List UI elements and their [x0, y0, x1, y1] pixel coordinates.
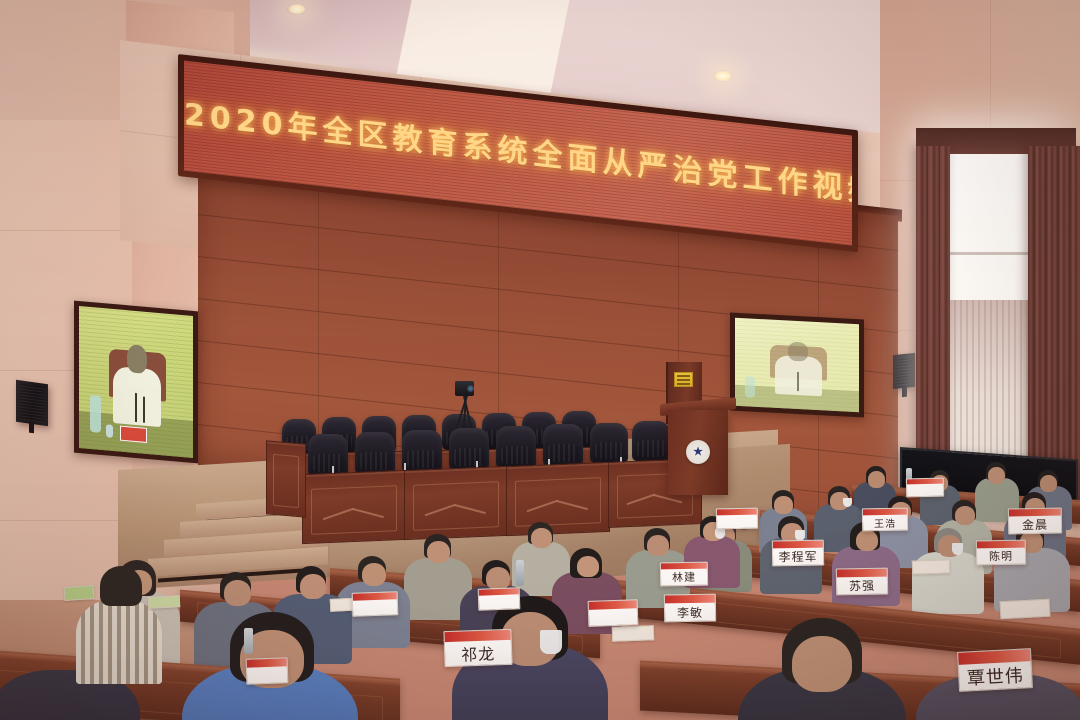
nameplate-name-text [907, 484, 943, 496]
nameplate-name-text [717, 515, 757, 529]
desk-nameplate [716, 508, 758, 530]
wall-speaker [16, 380, 48, 426]
stage-chair [590, 423, 628, 463]
nameplate-name-text [247, 666, 288, 684]
left-projection-screen [74, 301, 198, 464]
camera-lens-icon [467, 385, 474, 392]
document-paper [612, 625, 654, 641]
stage-desk-section [302, 470, 406, 544]
desk-nameplate: 李敏 [664, 594, 716, 623]
desk-nameplate: 陈明 [976, 540, 1026, 566]
folder-green [64, 585, 95, 601]
desk-nameplate: 金晨 [1008, 508, 1062, 535]
nameplate-name-text [589, 608, 638, 626]
stage-chair [402, 430, 442, 472]
nameplate-name-text: 陈明 [977, 548, 1025, 565]
document-paper [1000, 599, 1051, 620]
door-warning-sign [674, 372, 693, 387]
ceiling-downlight [287, 3, 307, 15]
nameplate-name-text: 李程军 [773, 548, 823, 566]
wall-speaker [893, 353, 915, 389]
nameplate-name-text [479, 595, 519, 610]
stage-desk-section [404, 466, 508, 540]
left-screen-image [79, 306, 193, 458]
stage-chair [355, 432, 395, 474]
nameplate-name-text: 金晨 [1009, 516, 1061, 534]
desk-nameplate: 祁龙 [443, 629, 512, 667]
water-bottle [244, 628, 253, 654]
desk-nameplate [352, 591, 399, 617]
podium-emblem-icon: ★ [686, 440, 710, 464]
ceiling-downlight [713, 70, 733, 82]
nameplate-name-text [353, 599, 397, 615]
document-paper [912, 559, 950, 574]
folder-green [148, 595, 181, 609]
stage-desk-end [266, 440, 306, 517]
nameplate-name-text: 覃世伟 [959, 661, 1032, 691]
desk-nameplate: 李程军 [772, 540, 824, 567]
stage-chair [449, 428, 489, 470]
conference-hall-photo: 2020年全区教育系统全面从严治党工作视频会议 [0, 0, 1080, 720]
nameplate-name-text: 林建 [661, 569, 707, 586]
desk-nameplate: 林建 [660, 562, 708, 587]
desk-nameplate [906, 478, 944, 498]
desk-nameplate [246, 657, 289, 684]
right-screen-image [735, 318, 859, 412]
stage-chair [308, 434, 348, 476]
stage-desk-section [506, 462, 610, 536]
nameplate-name-text: 苏强 [837, 577, 887, 595]
desk-nameplate: 王浩 [862, 508, 908, 532]
stage-chair [632, 421, 670, 461]
right-projection-screen [730, 312, 864, 417]
nameplate-name-text: 李敏 [665, 603, 715, 622]
water-bottle [516, 560, 524, 586]
desk-nameplate: 覃世伟 [957, 648, 1033, 692]
desk-nameplate: 苏强 [836, 568, 888, 596]
stage-chair [496, 426, 536, 468]
desk-nameplate [588, 599, 639, 627]
desk-nameplate [478, 587, 521, 610]
nameplate-name-text: 祁龙 [445, 640, 512, 666]
nameplate-name-text: 王浩 [863, 515, 907, 531]
